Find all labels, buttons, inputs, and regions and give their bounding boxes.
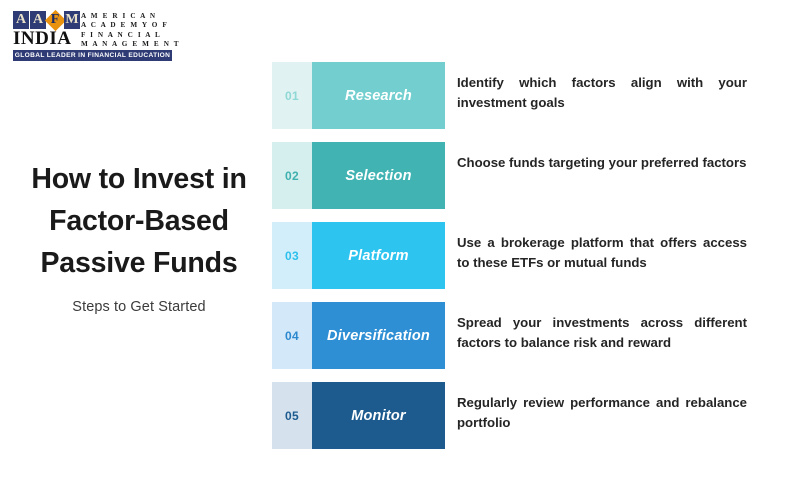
page-title-block: How to Invest in Factor-Based Passive Fu… — [14, 158, 264, 315]
step-description: Identify which factors align with your i… — [445, 62, 772, 113]
step-number-badge: 05 — [272, 382, 312, 449]
page-title-line-2: Factor-Based — [49, 205, 229, 237]
logo-tagline: GLOBAL LEADER IN FINANCIAL EDUCATION — [13, 50, 172, 61]
step-row: 04 Diversification Spread your investmen… — [272, 302, 772, 369]
logo-org-name: A M E R I C A N A C A D E M Y O F F I N … — [81, 11, 180, 50]
step-description: Spread your investments across different… — [445, 302, 772, 353]
step-number-badge: 04 — [272, 302, 312, 369]
step-label: Selection — [312, 142, 445, 209]
step-label: Platform — [312, 222, 445, 289]
step-description: Use a brokerage platform that offers acc… — [445, 222, 772, 273]
aafm-india-logo: A A F M INDIA A M E R I C A N A C A D E … — [13, 11, 173, 65]
page-subtitle: Steps to Get Started — [14, 299, 264, 315]
step-label: Monitor — [312, 382, 445, 449]
steps-list: 01 Research Identify which factors align… — [272, 62, 772, 462]
step-number-badge: 02 — [272, 142, 312, 209]
step-number-badge: 01 — [272, 62, 312, 129]
logo-org-line-4: M A N A G E M E N T — [81, 40, 180, 49]
step-description: Choose funds targeting your preferred fa… — [445, 142, 772, 173]
page-title-line-1: How to Invest in — [31, 163, 246, 195]
logo-main-row: A A F M INDIA A M E R I C A N A C A D E … — [13, 11, 173, 49]
step-row: 05 Monitor Regularly review performance … — [272, 382, 772, 449]
logo-org-line-3: F I N A N C I A L — [81, 31, 180, 40]
step-row: 01 Research Identify which factors align… — [272, 62, 772, 129]
step-description: Regularly review performance and rebalan… — [445, 382, 772, 433]
step-row: 02 Selection Choose funds targeting your… — [272, 142, 772, 209]
page-title: How to Invest in Factor-Based Passive Fu… — [14, 158, 264, 284]
logo-mark: A A F M INDIA — [13, 11, 81, 48]
logo-letter-f-diamond: F — [47, 11, 63, 29]
logo-letter-boxes: A A F M — [13, 11, 81, 29]
page-title-line-3: Passive Funds — [41, 247, 238, 279]
step-label: Research — [312, 62, 445, 129]
logo-org-line-2: A C A D E M Y O F — [81, 21, 180, 30]
logo-letter-m: M — [64, 11, 80, 29]
step-row: 03 Platform Use a brokerage platform tha… — [272, 222, 772, 289]
step-label: Diversification — [312, 302, 445, 369]
logo-org-line-1: A M E R I C A N — [81, 12, 180, 21]
step-number-badge: 03 — [272, 222, 312, 289]
logo-letter-a1: A — [13, 11, 29, 29]
logo-letter-f: F — [51, 11, 60, 29]
logo-country-text: INDIA — [13, 29, 81, 48]
